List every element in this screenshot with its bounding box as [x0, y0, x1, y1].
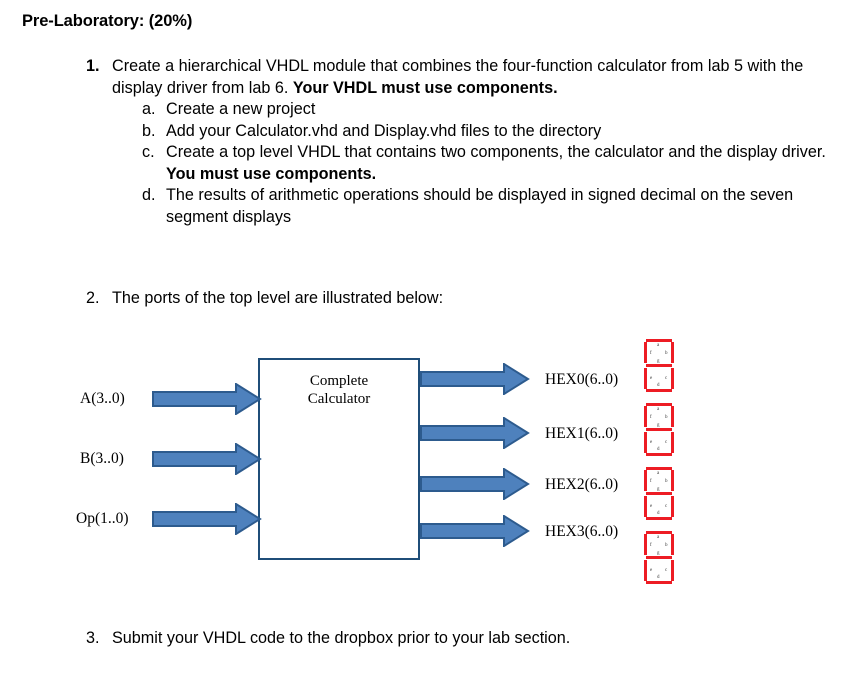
segment-d-icon — [646, 389, 672, 392]
list-item-number: 2. — [86, 288, 112, 310]
segment-label-b: b — [665, 543, 668, 548]
page-title: Pre-Laboratory: (20%) — [22, 12, 192, 31]
segment-label-g: g — [657, 487, 660, 492]
sub-item-text: Add your Calculator.vhd and Display.vhd … — [166, 121, 826, 143]
segment-e-icon — [644, 368, 647, 389]
segment-c-icon — [671, 560, 674, 581]
segment-label-e: e — [650, 376, 652, 381]
segment-label-a: a — [657, 471, 659, 476]
segment-label-c: c — [665, 504, 667, 509]
segment-label-d: d — [657, 575, 660, 580]
segment-label-f: f — [650, 479, 652, 484]
input-arrow-b — [152, 443, 262, 475]
sub-item-letter: b. — [142, 121, 166, 143]
sub-list-item-b: b. Add your Calculator.vhd and Display.v… — [142, 121, 826, 143]
seven-segment-display-column: a b c d e f g a b c d e f g — [640, 338, 684, 594]
segment-e-icon — [644, 432, 647, 453]
segment-b-icon — [671, 406, 674, 427]
segment-label-g: g — [657, 359, 660, 364]
input-arrow-op — [152, 503, 262, 535]
calculator-block-label-line1: Complete — [260, 372, 418, 390]
segment-c-icon — [671, 368, 674, 389]
instruction-list-item-2: 2. The ports of the top level are illust… — [86, 288, 826, 310]
segment-e-icon — [644, 496, 647, 517]
sub-item-text-plain: Create a top level VHDL that contains tw… — [166, 143, 826, 161]
segment-label-d: d — [657, 447, 660, 452]
segment-b-icon — [671, 342, 674, 363]
sub-item-text: The results of arithmetic operations sho… — [166, 185, 826, 228]
sub-list: a. Create a new project b. Add your Calc… — [142, 99, 826, 228]
segment-label-d: d — [657, 511, 660, 516]
list-item-text: Submit your VHDL code to the dropbox pri… — [112, 628, 826, 650]
output-label-hex2: HEX2(6..0) — [545, 476, 618, 494]
segment-d-icon — [646, 581, 672, 584]
input-label-b: B(3..0) — [80, 450, 124, 468]
segment-d-icon — [646, 517, 672, 520]
segment-label-c: c — [665, 440, 667, 445]
segment-f-icon — [644, 342, 647, 363]
segment-b-icon — [671, 534, 674, 555]
list-item-text: The ports of the top level are illustrat… — [112, 288, 826, 310]
segment-label-e: e — [650, 568, 652, 573]
list-item-text-plain: Submit your VHDL code to the dropbox pri… — [112, 629, 570, 647]
seven-segment-display: a b c d e f g — [640, 466, 680, 522]
sub-list-item-d: d. The results of arithmetic operations … — [142, 185, 826, 228]
input-arrow-a — [152, 383, 262, 415]
list-item: 3. Submit your VHDL code to the dropbox … — [86, 628, 826, 650]
sub-item-letter: a. — [142, 99, 166, 121]
list-item-number: 3. — [86, 628, 112, 650]
segment-a-icon — [646, 531, 672, 534]
segment-label-f: f — [650, 351, 652, 356]
calculator-block: Complete Calculator — [258, 358, 420, 560]
segment-label-e: e — [650, 504, 652, 509]
segment-e-icon — [644, 560, 647, 581]
sub-item-text-plain: Create a new project — [166, 100, 315, 118]
sub-item-text: Create a new project — [166, 99, 826, 121]
segment-label-b: b — [665, 351, 668, 356]
segment-label-c: c — [665, 568, 667, 573]
segment-label-e: e — [650, 440, 652, 445]
sub-item-text: Create a top level VHDL that contains tw… — [166, 142, 826, 185]
port-diagram: Complete Calculator A(3..0) B(3..0) Op(1… — [0, 330, 865, 600]
sub-item-letter: d. — [142, 185, 166, 207]
segment-label-d: d — [657, 383, 660, 388]
segment-f-icon — [644, 534, 647, 555]
segment-label-g: g — [657, 423, 660, 428]
output-arrow-hex0 — [420, 363, 530, 395]
list-item-text-bold: Your VHDL must use components. — [293, 79, 558, 97]
calculator-block-label: Complete Calculator — [260, 372, 418, 408]
list-item-number: 1. — [86, 56, 112, 78]
segment-g-icon — [646, 428, 672, 431]
segment-label-a: a — [657, 343, 659, 348]
segment-c-icon — [671, 432, 674, 453]
segment-a-icon — [646, 467, 672, 470]
segment-label-b: b — [665, 415, 668, 420]
segment-f-icon — [644, 406, 647, 427]
segment-c-icon — [671, 496, 674, 517]
segment-a-icon — [646, 339, 672, 342]
segment-g-icon — [646, 364, 672, 367]
sub-list-item-a: a. Create a new project — [142, 99, 826, 121]
segment-label-b: b — [665, 479, 668, 484]
input-label-op: Op(1..0) — [76, 510, 129, 528]
segment-g-icon — [646, 492, 672, 495]
list-item: 2. The ports of the top level are illust… — [86, 288, 826, 310]
seven-segment-display: a b c d e f g — [640, 338, 680, 394]
segment-label-a: a — [657, 407, 659, 412]
calculator-block-label-line2: Calculator — [260, 390, 418, 408]
instruction-list-item-3: 3. Submit your VHDL code to the dropbox … — [86, 628, 826, 650]
segment-b-icon — [671, 470, 674, 491]
list-item: 1. Create a hierarchical VHDL module tha… — [86, 56, 826, 99]
list-item-text-plain: The ports of the top level are illustrat… — [112, 289, 443, 307]
segment-label-a: a — [657, 535, 659, 540]
segment-label-g: g — [657, 551, 660, 556]
sub-list-item-c: c. Create a top level VHDL that contains… — [142, 142, 826, 185]
segment-g-icon — [646, 556, 672, 559]
output-label-hex0: HEX0(6..0) — [545, 371, 618, 389]
segment-a-icon — [646, 403, 672, 406]
output-arrow-hex3 — [420, 515, 530, 547]
segment-label-f: f — [650, 543, 652, 548]
output-label-hex3: HEX3(6..0) — [545, 523, 618, 541]
sub-item-text-plain: The results of arithmetic operations sho… — [166, 186, 793, 226]
segment-label-f: f — [650, 415, 652, 420]
sub-item-letter: c. — [142, 142, 166, 164]
seven-segment-display: a b c d e f g — [640, 530, 680, 586]
sub-item-text-bold: You must use components. — [166, 165, 376, 183]
output-arrow-hex1 — [420, 417, 530, 449]
segment-f-icon — [644, 470, 647, 491]
list-item-text: Create a hierarchical VHDL module that c… — [112, 56, 826, 99]
output-arrow-hex2 — [420, 468, 530, 500]
segment-d-icon — [646, 453, 672, 456]
sub-item-text-plain: Add your Calculator.vhd and Display.vhd … — [166, 122, 601, 140]
output-label-hex1: HEX1(6..0) — [545, 425, 618, 443]
instruction-list-item-1: 1. Create a hierarchical VHDL module tha… — [86, 56, 826, 228]
segment-label-c: c — [665, 376, 667, 381]
seven-segment-display: a b c d e f g — [640, 402, 680, 458]
input-label-a: A(3..0) — [80, 390, 125, 408]
